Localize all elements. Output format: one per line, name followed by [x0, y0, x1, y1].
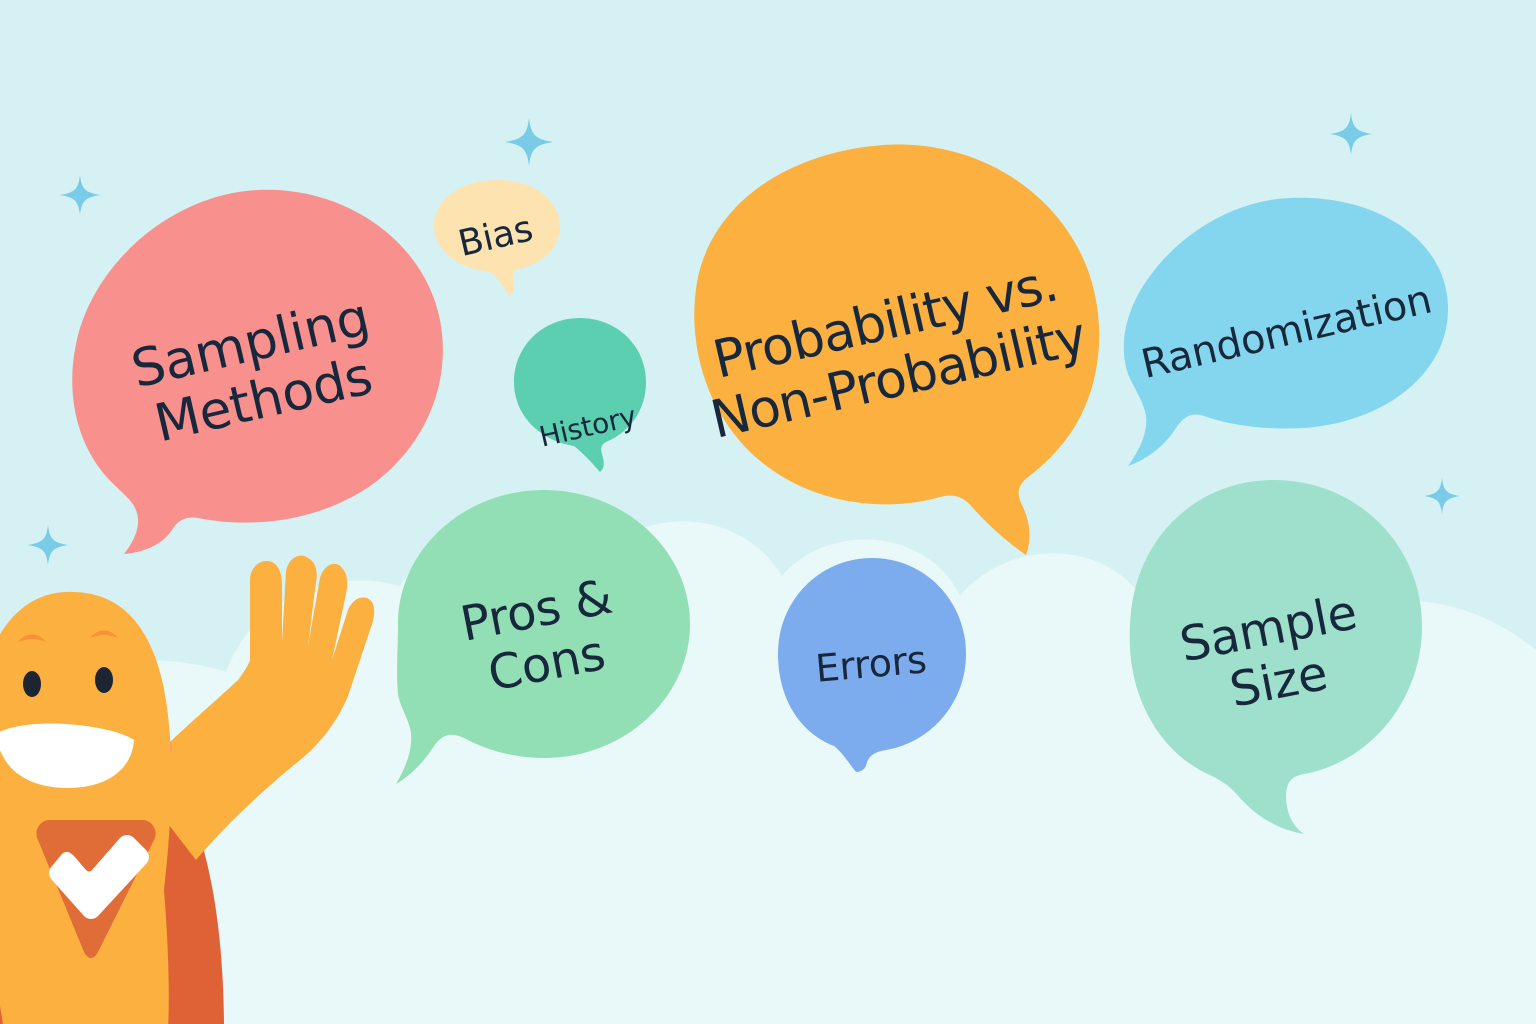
speech-bubble-pros-and-cons[interactable]: Pros & Cons	[396, 488, 692, 788]
bubble-shape	[396, 488, 692, 788]
bubble-shape	[776, 556, 968, 772]
speech-bubble-randomization[interactable]: Randomization	[1128, 196, 1450, 468]
speech-bubble-probability-vs-non-probability[interactable]: Probability vs. Non-Probability	[688, 143, 1102, 557]
mascot-eye-right	[95, 667, 113, 693]
sparkle-icon	[1424, 478, 1460, 514]
sparkle-icon	[1330, 113, 1372, 155]
speech-bubble-sampling-methods[interactable]: Sampling Methods	[68, 186, 448, 558]
bubble-shape	[1128, 196, 1450, 468]
speech-bubble-errors[interactable]: Errors	[776, 556, 968, 772]
illustration-canvas: Sampling Methods Bias History Probabilit…	[0, 0, 1536, 1024]
bubble-shape	[432, 178, 562, 296]
mascot-eye-left	[23, 671, 41, 697]
mascot-body	[0, 592, 171, 1024]
bubble-shape	[688, 143, 1102, 557]
bubble-shape	[512, 316, 648, 472]
speech-bubble-sample-size[interactable]: Sample Size	[1128, 478, 1426, 834]
mascot-figure	[0, 520, 376, 1024]
speech-bubble-history[interactable]: History	[512, 316, 648, 472]
sparkle-icon	[505, 118, 553, 166]
bubble-shape	[68, 186, 448, 558]
speech-bubble-bias[interactable]: Bias	[432, 178, 562, 296]
mascot-waving-blob[interactable]	[0, 520, 376, 1024]
bubble-shape	[1128, 478, 1426, 834]
